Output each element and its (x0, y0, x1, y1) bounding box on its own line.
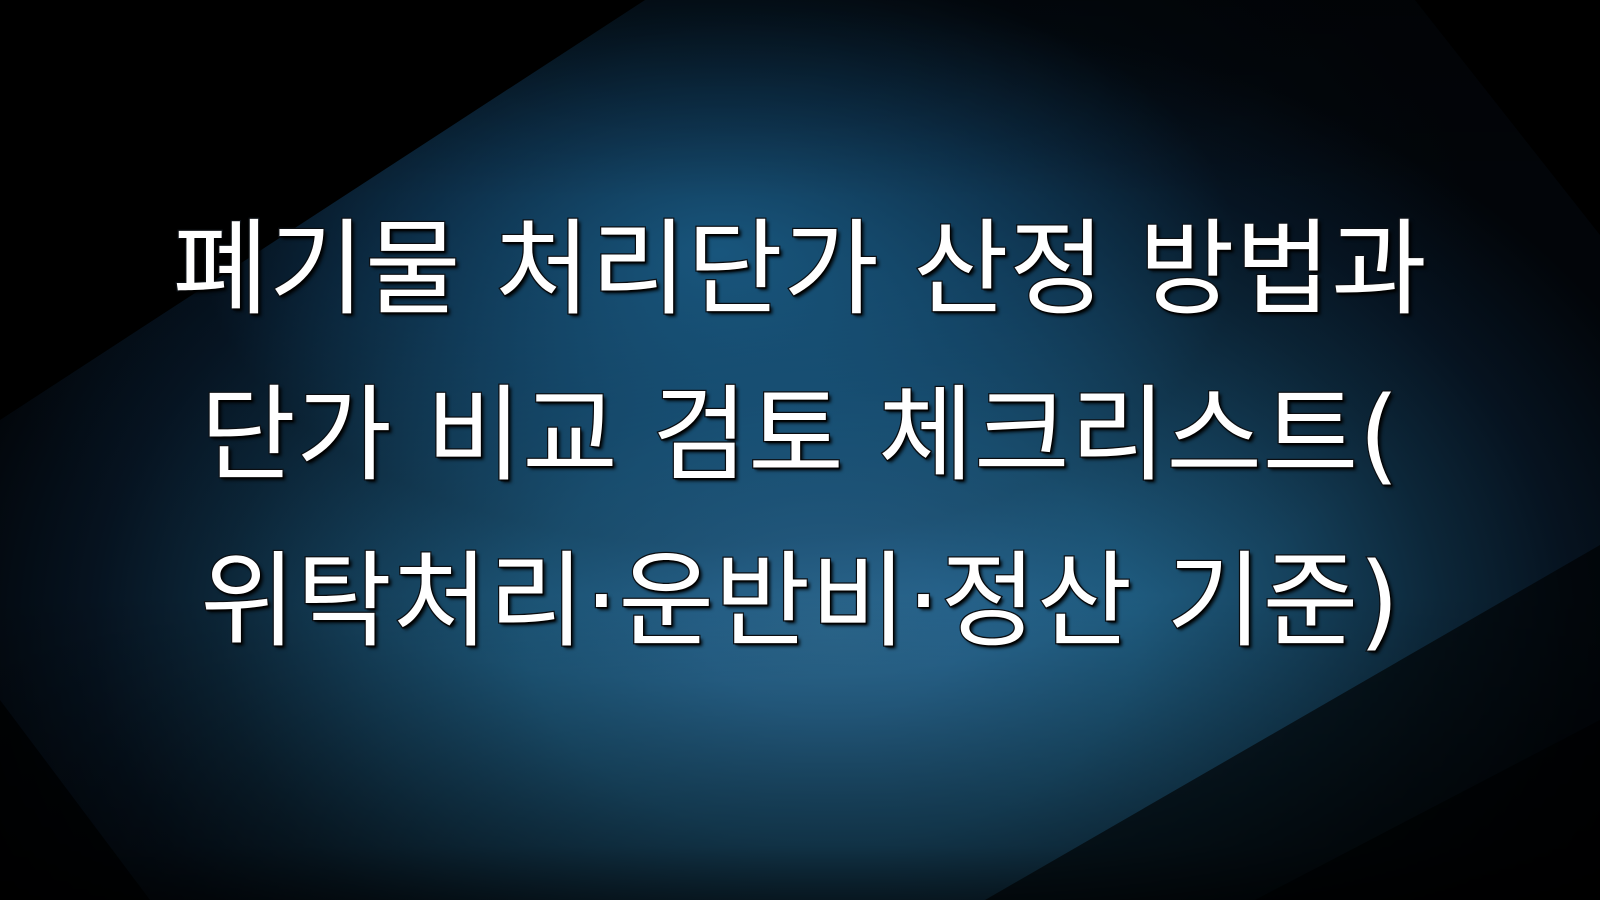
title-line-1: 폐기물 처리단가 산정 방법과 (0, 186, 1600, 352)
slide-title: 폐기물 처리단가 산정 방법과 단가 비교 검토 체크리스트( 위탁처리·운반비… (0, 186, 1600, 684)
title-slide: 폐기물 처리단가 산정 방법과 단가 비교 검토 체크리스트( 위탁처리·운반비… (0, 0, 1600, 900)
title-line-2: 단가 비교 검토 체크리스트( (0, 352, 1600, 518)
title-line-3: 위탁처리·운반비·정산 기준) (0, 518, 1600, 684)
